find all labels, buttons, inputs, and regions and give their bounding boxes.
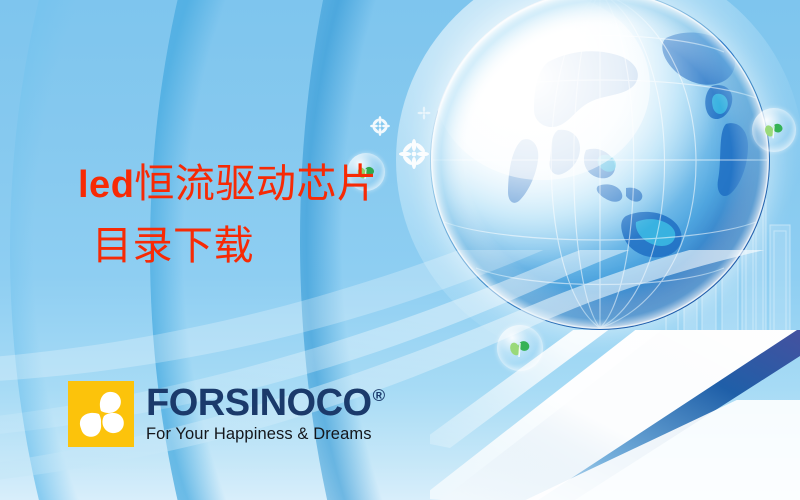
green-sprout-icon <box>506 334 534 362</box>
logo-wordmark-text: FORSINOCO <box>146 385 372 422</box>
headline-line-1-cjk: 恒流驱动芯片 <box>134 161 377 206</box>
promo-banner: led恒流驱动芯片 目录下载 FORSINOCO ® For Your Happ… <box>0 0 800 500</box>
headline: led恒流驱动芯片 目录下载 <box>78 163 458 266</box>
globe-sphere <box>430 0 770 330</box>
four-petal-flower-icon <box>68 381 134 447</box>
bubble-with-green-sprout-icon <box>497 325 543 371</box>
globe-continents <box>430 0 770 330</box>
logo-wordmark: FORSINOCO ® <box>146 385 385 422</box>
bubble-with-green-sprout-icon <box>752 108 796 152</box>
headline-line-1: led恒流驱动芯片 <box>78 163 458 205</box>
company-logo: FORSINOCO ® For Your Happiness & Dreams <box>68 381 385 447</box>
headline-line-2: 目录下载 <box>92 225 458 266</box>
registered-trademark-icon: ® <box>373 387 385 404</box>
logo-tagline: For Your Happiness & Dreams <box>146 425 385 443</box>
logo-text-block: FORSINOCO ® For Your Happiness & Dreams <box>146 385 385 442</box>
corner-white-wedge <box>520 400 800 500</box>
green-sprout-icon <box>761 117 787 143</box>
four-petal-flower-shape <box>68 381 134 447</box>
flower-sparkle-icon <box>370 116 390 136</box>
headline-line-1-latin: led <box>78 164 134 206</box>
earth-globe-icon <box>430 0 770 330</box>
